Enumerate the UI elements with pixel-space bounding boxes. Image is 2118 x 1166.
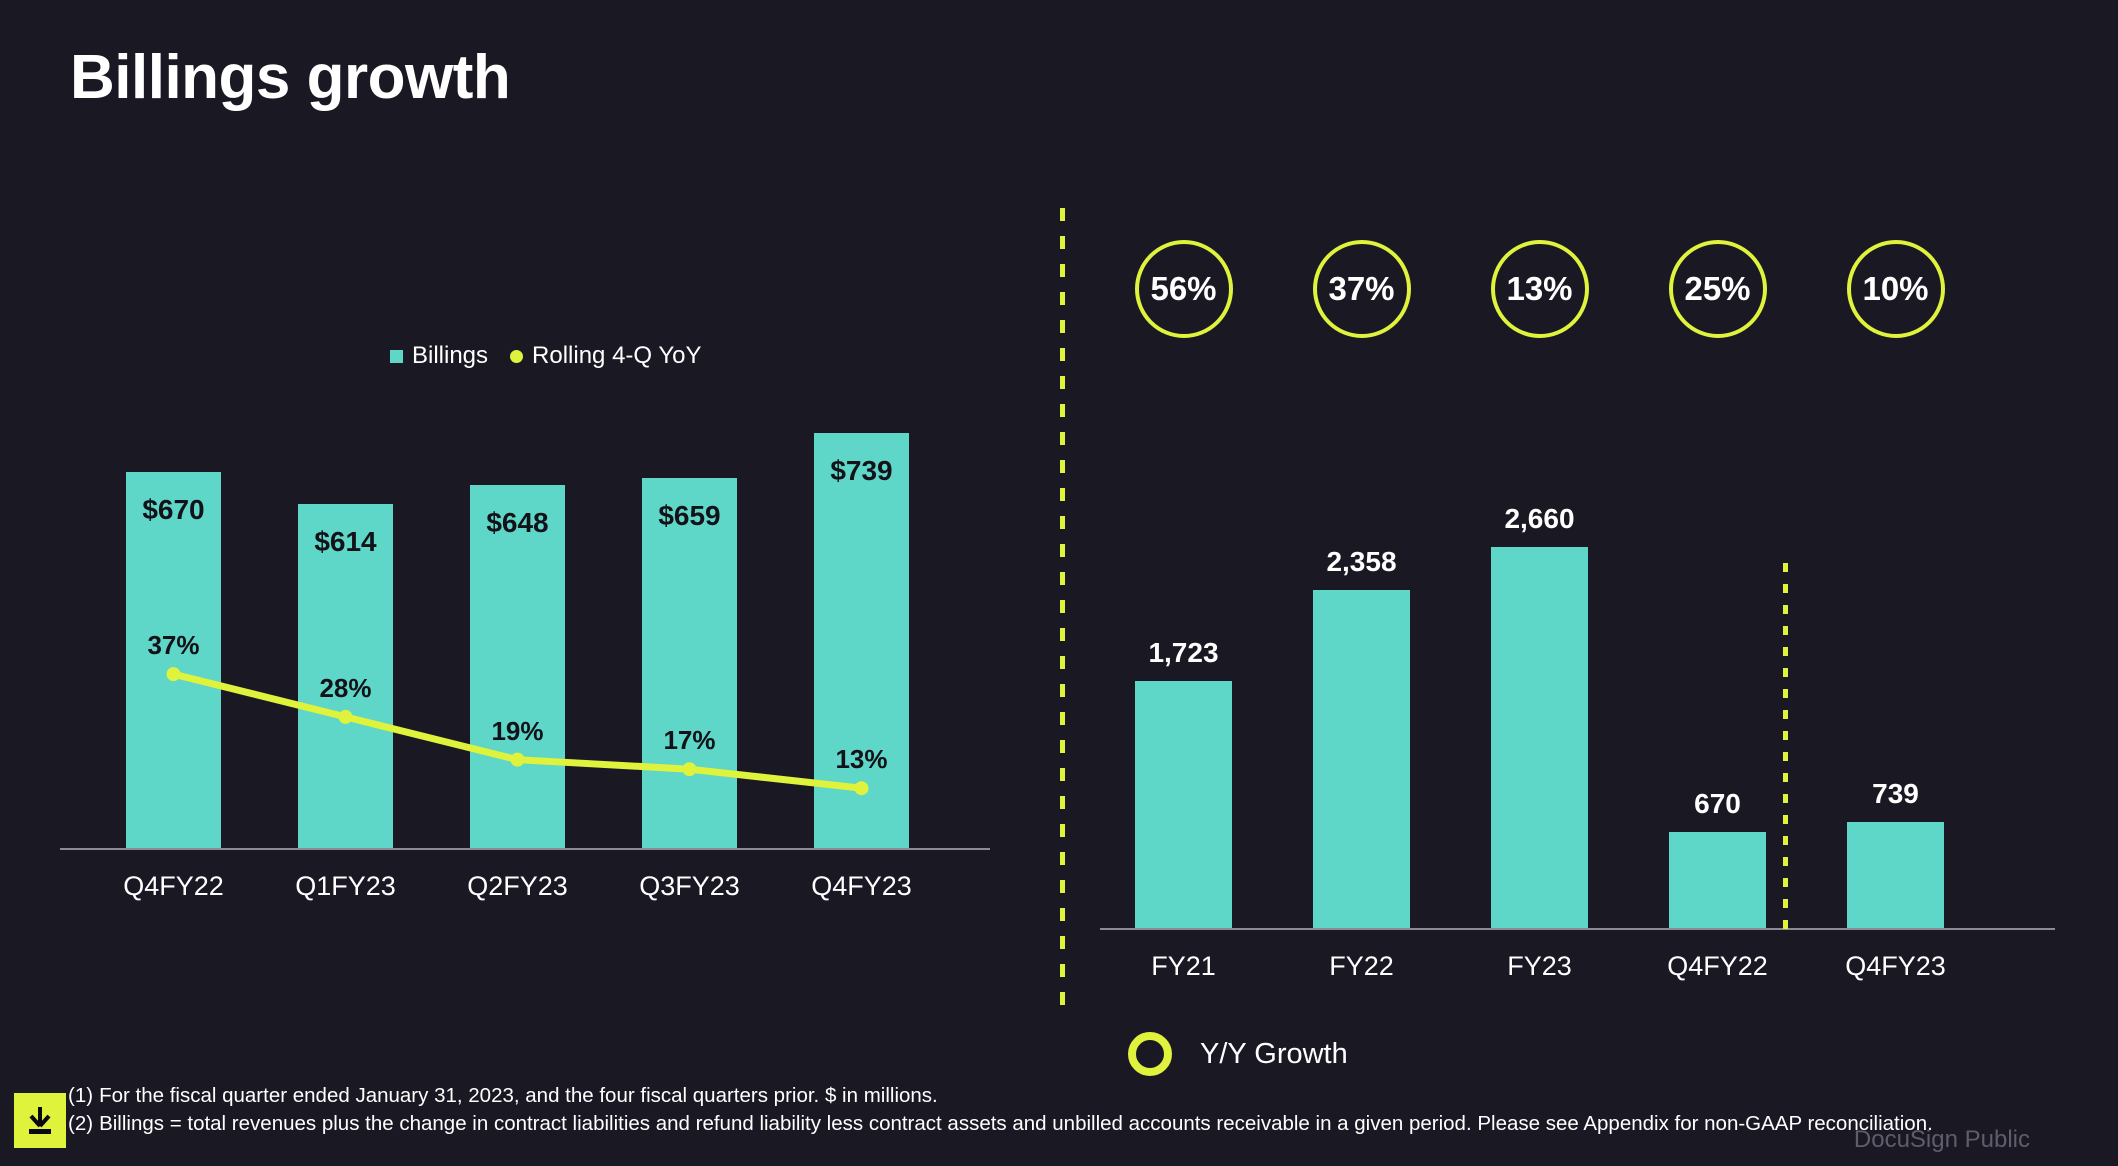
- footnote-2-text: Billings = total revenues plus the chang…: [99, 1112, 1933, 1135]
- yy-growth-legend: Y/Y Growth: [1128, 1032, 1348, 1076]
- line-value-label: 19%: [473, 716, 563, 747]
- x-label-q3fy23: Q3FY23: [610, 871, 770, 902]
- right-x-axis-line: [1100, 928, 2055, 930]
- bar-q4fy23: 739: [1847, 822, 1944, 928]
- x-label-q2fy23: Q2FY23: [438, 871, 598, 902]
- right-inner-divider: [1783, 563, 1788, 938]
- bar-fy22: 2,358: [1313, 590, 1410, 928]
- footnote-1-text: For the fiscal quarter ended January 31,…: [99, 1084, 938, 1107]
- x-label-fy22: FY22: [1282, 951, 1442, 982]
- x-label-q4fy22: Q4FY22: [94, 871, 254, 902]
- footnotes: (1)For the fiscal quarter ended January …: [68, 1082, 1933, 1138]
- line-marker: [511, 753, 525, 767]
- line-value-label: 37%: [129, 630, 219, 661]
- line-marker: [855, 781, 869, 795]
- growth-ring-icon: [1128, 1032, 1172, 1076]
- bar-value-label: 670: [1639, 788, 1796, 820]
- footnote-2-marker: (2): [68, 1110, 93, 1138]
- x-label-q4fy23: Q4FY23: [1816, 951, 1976, 982]
- growth-circle-fy22: 37%: [1313, 240, 1411, 338]
- yy-growth-label: Y/Y Growth: [1200, 1038, 1348, 1071]
- legend-label-rolling-yoy: Rolling 4-Q YoY: [532, 342, 701, 370]
- x-label-fy23: FY23: [1460, 951, 1620, 982]
- x-label-q4fy23: Q4FY23: [782, 871, 942, 902]
- bar-value-label: 2,660: [1461, 503, 1618, 535]
- footnote-1: (1)For the fiscal quarter ended January …: [68, 1082, 1933, 1110]
- growth-circle-row: 56%37%13%25%10%: [1100, 240, 2060, 360]
- growth-circle-fy23: 13%: [1491, 240, 1589, 338]
- growth-circle-q4fy23: 10%: [1847, 240, 1945, 338]
- bar-value-label: 1,723: [1105, 637, 1262, 669]
- slide-root: Billings growth Billings Rolling 4-Q YoY…: [0, 0, 2118, 1166]
- left-chart-legend: Billings Rolling 4-Q YoY: [390, 342, 701, 370]
- line-marker: [339, 710, 353, 724]
- legend-label-billings: Billings: [412, 342, 488, 370]
- x-label-q4fy22: Q4FY22: [1638, 951, 1798, 982]
- x-label-q1fy23: Q1FY23: [266, 871, 426, 902]
- line-value-label: 17%: [645, 725, 735, 756]
- left-plot-area: $670$614$648$659$739 Q4FY22Q1FY23Q2FY23Q…: [60, 390, 1000, 920]
- bar-fy21: 1,723: [1135, 681, 1232, 928]
- line-value-label: 28%: [301, 673, 391, 704]
- line-marker: [683, 762, 697, 776]
- line-marker: [167, 667, 181, 681]
- square-swatch-icon: [390, 350, 403, 363]
- bar-value-label: 2,358: [1283, 546, 1440, 578]
- chart-divider: [1060, 208, 1065, 1013]
- page-title: Billings growth: [70, 42, 510, 113]
- growth-circle-q4fy22: 25%: [1669, 240, 1767, 338]
- annual-billings-chart: 56%37%13%25%10% 1,723FY212,358FY222,660F…: [1100, 240, 2060, 1000]
- x-label-fy21: FY21: [1104, 951, 1264, 982]
- right-plot-area: 1,723FY212,358FY222,660FY23670Q4FY22739Q…: [1100, 360, 2060, 1000]
- footnote-2: (2)Billings = total revenues plus the ch…: [68, 1110, 1933, 1138]
- legend-item-billings: Billings: [390, 342, 488, 370]
- footnote-1-marker: (1): [68, 1082, 93, 1110]
- quarterly-billings-chart: Billings Rolling 4-Q YoY $670$614$648$65…: [60, 330, 1000, 970]
- growth-circle-fy21: 56%: [1135, 240, 1233, 338]
- download-icon[interactable]: [14, 1093, 66, 1148]
- dot-swatch-icon: [510, 350, 523, 363]
- bar-q4fy22: 670: [1669, 832, 1766, 928]
- line-value-label: 13%: [817, 744, 907, 775]
- bar-fy23: 2,660: [1491, 547, 1588, 928]
- legend-item-rolling-yoy: Rolling 4-Q YoY: [510, 342, 701, 370]
- bar-value-label: 739: [1817, 778, 1974, 810]
- watermark: DocuSign Public: [1854, 1126, 2030, 1154]
